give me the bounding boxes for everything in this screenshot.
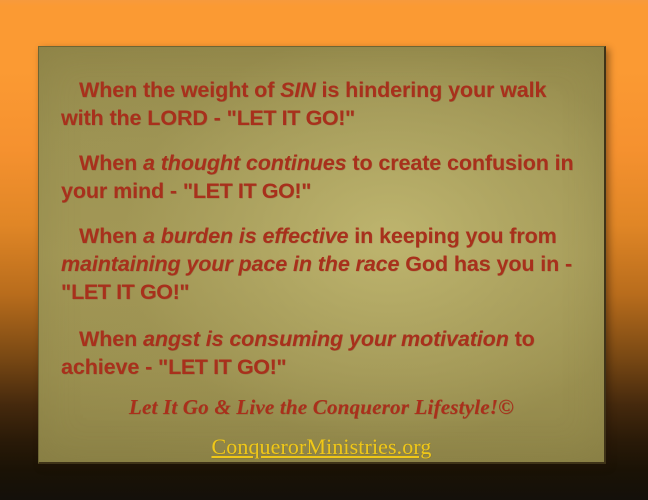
text-run-regular: When — [79, 151, 143, 175]
text-run-regular: " — [301, 179, 311, 203]
paragraph-2: When a thought continues to create confu… — [61, 150, 582, 206]
text-run-bold: LET IT GO! — [237, 106, 345, 130]
text-run-regular: " — [345, 106, 355, 130]
text-run-regular: " — [179, 280, 189, 304]
content-panel: When the weight of SIN is hindering your… — [38, 46, 606, 464]
text-run-italic: angst is consuming your motivation — [143, 327, 509, 351]
paragraph-3: When a burden is effective in keeping yo… — [61, 223, 582, 307]
tagline: Let It Go & Live the Conqueror Lifestyle… — [61, 395, 582, 420]
text-run-italic: a burden is effective — [143, 224, 348, 248]
paragraph-4: When angst is consuming your motivation … — [61, 326, 582, 382]
ministry-website-link[interactable]: ConquerorMinistries.org — [211, 434, 431, 459]
link-container: ConquerorMinistries.org — [61, 434, 582, 460]
text-run-regular: " — [276, 355, 286, 379]
text-run-bold: LET IT GO! — [193, 179, 301, 203]
text-run-italic: maintaining your pace in the race — [61, 252, 399, 276]
paragraph-1: When the weight of SIN is hindering your… — [61, 77, 582, 133]
text-run-italic: a thought continues — [143, 151, 347, 175]
text-run-regular: When — [79, 327, 143, 351]
text-run-bold: LET IT GO! — [168, 355, 276, 379]
text-run-regular: When the weight of — [79, 78, 280, 102]
text-run-regular: When — [79, 224, 143, 248]
text-run-bold: LET IT GO! — [71, 280, 179, 304]
slide-canvas: When the weight of SIN is hindering your… — [0, 0, 648, 500]
text-run-regular: in keeping you from — [348, 224, 556, 248]
text-run-italic: SIN — [280, 78, 316, 102]
